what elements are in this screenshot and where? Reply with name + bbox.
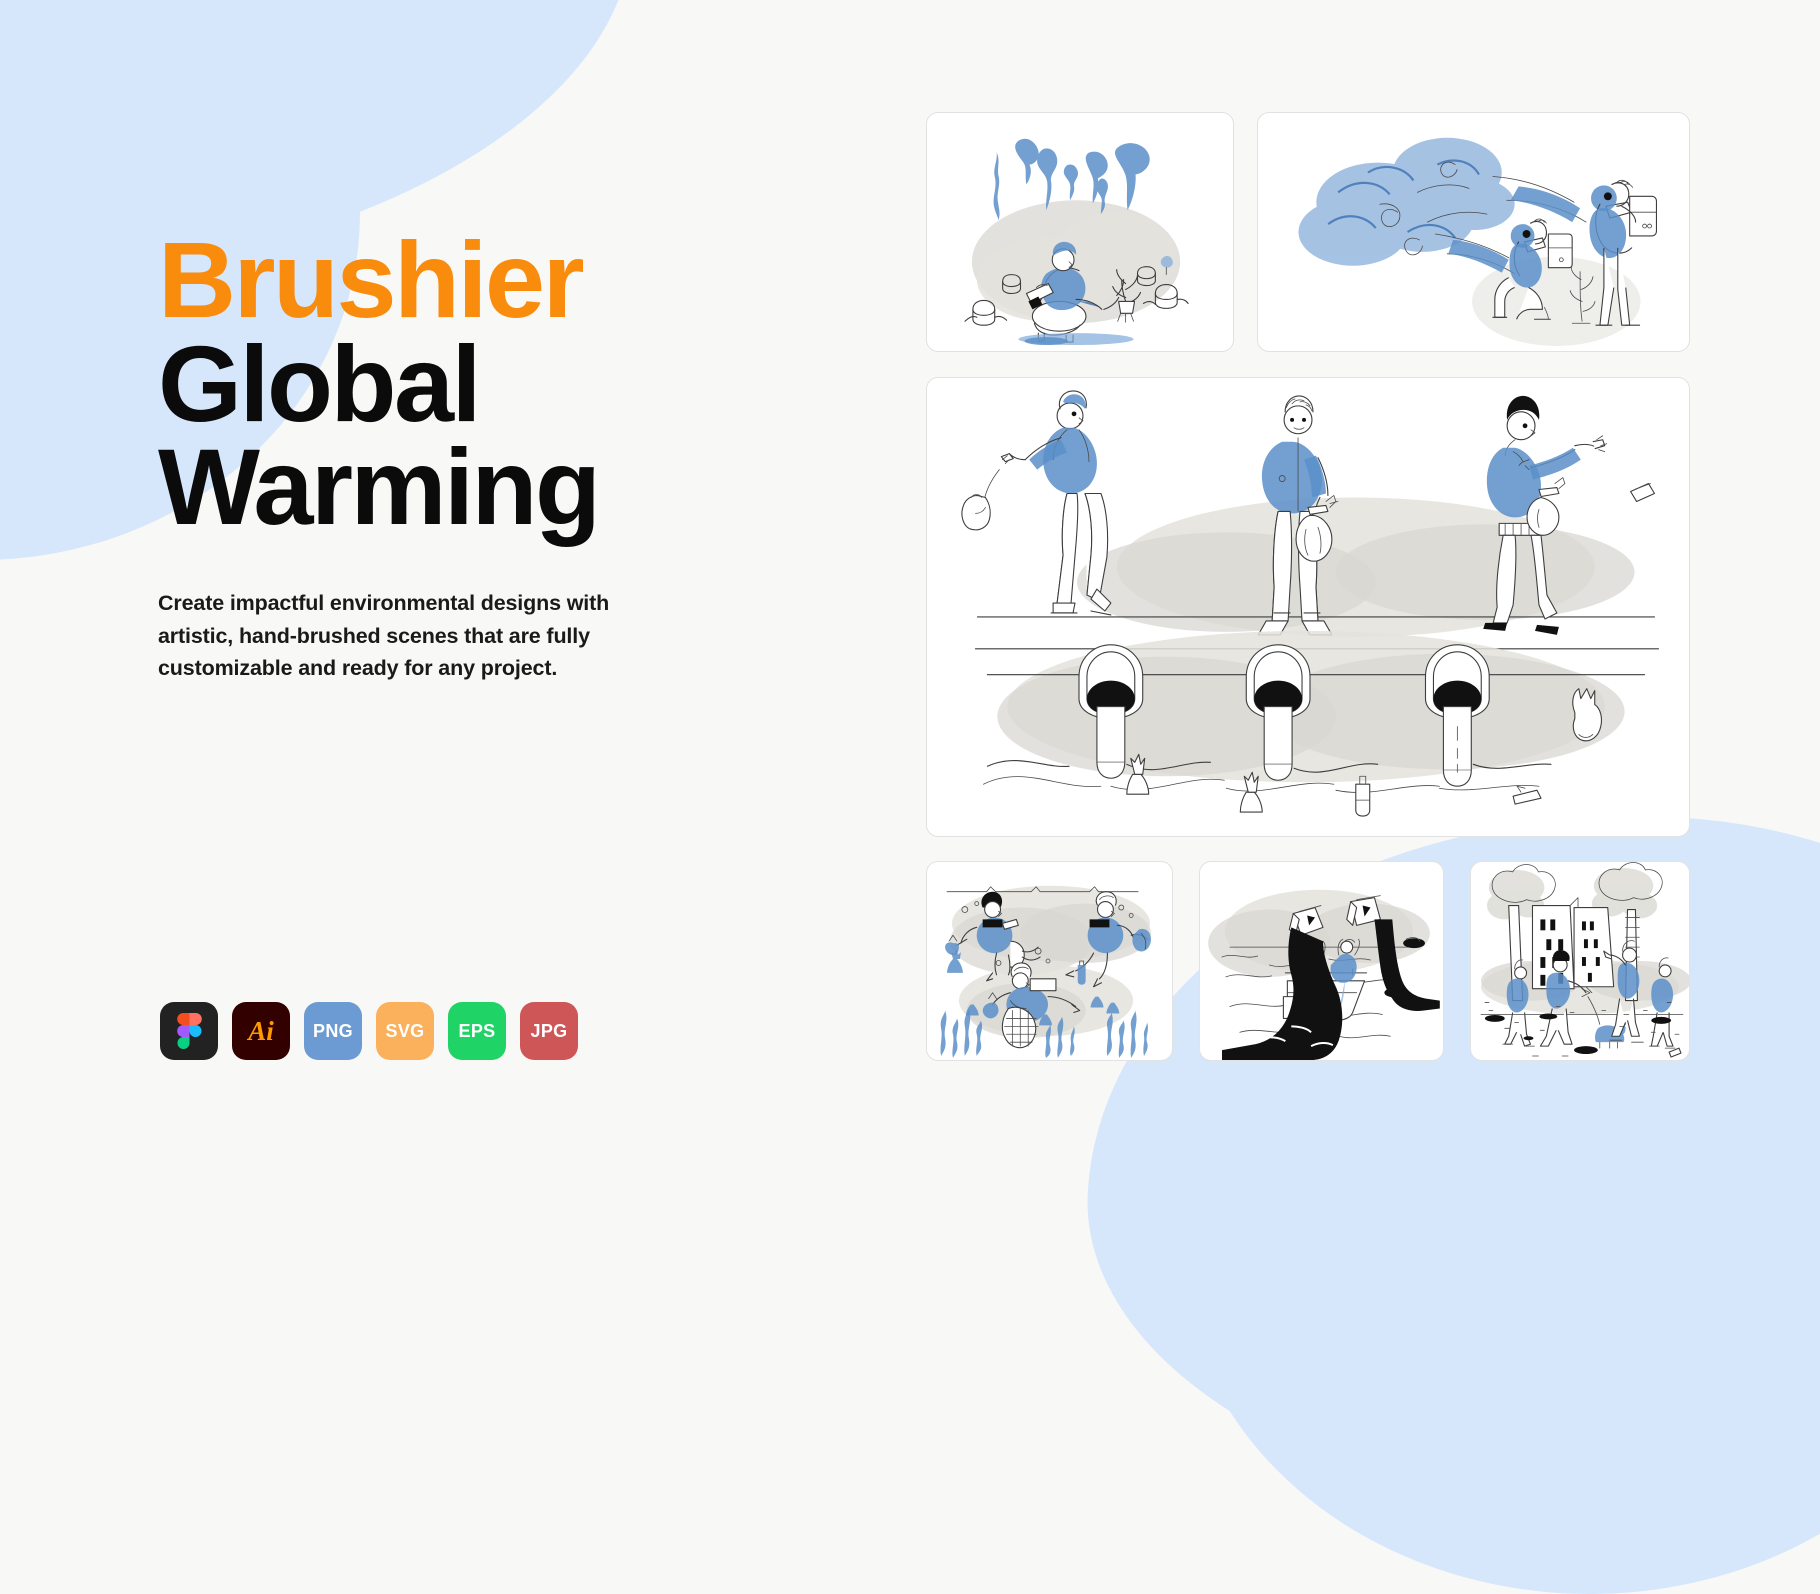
illustration-card-firefighters[interactable] [1257, 112, 1690, 352]
format-badge-svg[interactable]: SVG [376, 1002, 434, 1060]
firefighters-illustration [1258, 113, 1689, 351]
page-title-line-3: Warming [158, 435, 798, 539]
format-badge-figma[interactable] [160, 1002, 218, 1060]
figma-icon [177, 1013, 202, 1049]
illustration-card-smog[interactable] [1470, 861, 1690, 1061]
format-badge-eps[interactable]: EPS [448, 1002, 506, 1060]
format-badge-illustrator[interactable]: Ai [232, 1002, 290, 1060]
reforestation-illustration [927, 113, 1233, 351]
format-badge-png[interactable]: PNG [304, 1002, 362, 1060]
format-badge-list: Ai PNG SVG EPS JPG [160, 1002, 578, 1060]
sewage-illustration [927, 378, 1689, 836]
illustration-card-divers[interactable] [926, 861, 1173, 1061]
illustration-card-reforestation[interactable] [926, 112, 1234, 352]
divers-illustration [927, 862, 1172, 1060]
hero-text-column: Brushier Global Warming Create impactful… [158, 228, 798, 685]
hero-subtitle: Create impactful environmental designs w… [158, 587, 678, 685]
illustration-card-sewage[interactable] [926, 377, 1690, 837]
page-title-line-2: Global [158, 332, 798, 436]
format-badge-jpg[interactable]: JPG [520, 1002, 578, 1060]
page-title-line-1: Brushier [158, 228, 798, 332]
smog-illustration [1471, 862, 1689, 1060]
oilspill-illustration [1200, 862, 1443, 1060]
illustration-card-oilspill[interactable] [1199, 861, 1444, 1061]
